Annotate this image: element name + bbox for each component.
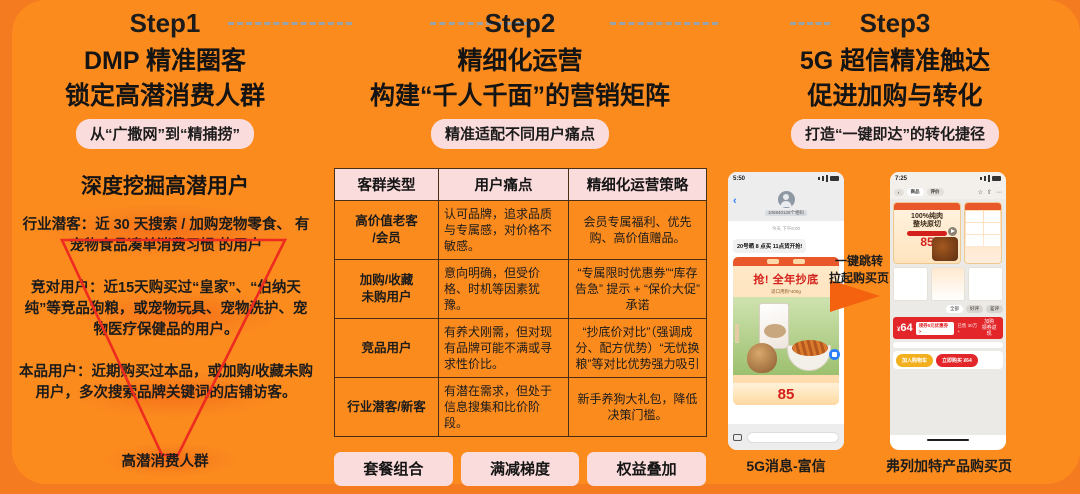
ad-chip-icon: [793, 259, 805, 264]
price-bar-right-label: 加购 领券返现: [979, 319, 999, 337]
table-row: 高价值老客 /会员 认可品牌，追求品质与专属感，对价格不敏感。 会员专属福利、优…: [335, 201, 707, 260]
battery-icon: [830, 176, 839, 181]
grid-cell: [966, 223, 983, 234]
row1-pain: 认可品牌，追求品质与专属感，对价格不敏感。: [439, 201, 569, 260]
row3-pain: 有养犬刚需，但对现有品牌可能不满或寻求性价比。: [439, 319, 569, 378]
phone-a-conversation-header: ‹ 106940128个相码: [728, 185, 844, 221]
row1-strategy: 会员专属福利、优先购、高价值赠品。: [569, 201, 707, 260]
step1-section-title: 深度挖掘高潜用户: [0, 170, 330, 200]
back-chevron-icon[interactable]: ‹: [894, 189, 904, 196]
avatar: [778, 191, 795, 208]
pill-benefit-stack[interactable]: 权益叠加: [587, 452, 706, 486]
row4-strategy: 新手养狗大礼包，降低决策门槛。: [569, 378, 707, 437]
signal-bar-icon: [988, 175, 990, 182]
signal-bar-icon: [826, 175, 828, 182]
battery-icon: [992, 176, 1001, 181]
tab-reviews[interactable]: 评价: [927, 188, 944, 196]
more-icon[interactable]: ⋯: [996, 189, 1002, 196]
phone-a-message-bubble: 20号晒 8 点买 11点货开抢!: [733, 239, 806, 253]
row3-type: 竞品用户: [335, 319, 439, 378]
segment-strategy-table: 客群类型 用户痛点 精细化运营策略 高价值老客 /会员 认可品牌，追求品质与专属…: [334, 168, 707, 437]
step2-label: Step2: [485, 8, 556, 38]
phone-a-ad-price-bar: 85: [733, 383, 839, 405]
message-action-icon[interactable]: [829, 349, 840, 360]
column-step1: Step1 DMP 精准圈客 锁定高潜消费人群 从“广撒网”到“精捕捞” 深度挖…: [0, 0, 330, 494]
play-icon[interactable]: [948, 227, 957, 236]
phone-a-status-time: 5:50: [733, 176, 745, 182]
product-price-value: 64: [900, 322, 912, 334]
grid-cell: [966, 235, 983, 246]
jump-callout-line1: 一键跳转: [816, 253, 902, 270]
signal-bar-icon: [980, 177, 982, 180]
phone-b-status-icons: [980, 175, 1001, 182]
phone-b-banner-row: 100%纯肉 整块原切 85: [893, 202, 1003, 264]
product-side-card-1[interactable]: [964, 202, 1002, 264]
step3-label: Step3: [860, 8, 931, 38]
step3-headline-line2: 促进加购与转化: [710, 79, 1080, 114]
info-card[interactable]: [931, 267, 966, 301]
step1-headline: DMP 精准圈客 锁定高潜消费人群 从“广撒网”到“精捕捞”: [0, 44, 330, 149]
phone-a-caption: 5G消息-富信: [716, 456, 856, 476]
phone-b-caption: 弗列加特产品购买页: [876, 456, 1022, 476]
buy-now-button[interactable]: 立即购买 ¥64: [936, 354, 978, 367]
row4-pain: 有潜在需求，但处于信息搜集和比价阶段。: [439, 378, 569, 437]
row2-type: 加购/收藏 未购用户: [335, 260, 439, 319]
grid-cell: [966, 211, 983, 222]
audience-label-industry: 行业潜客：: [23, 217, 96, 233]
info-card[interactable]: [968, 267, 1003, 301]
audience-paragraph-competitor: 竞对用户：近15天购买过“皇家”、“伯纳天纯”等竞品狗粮，或宠物玩具、宠物洗护、…: [18, 278, 314, 341]
tab-product[interactable]: 商品: [907, 188, 924, 196]
jump-callout-text: 一键跳转 拉起购买页: [816, 253, 902, 287]
phone-a-message-time: 今天 下午8:00: [733, 226, 839, 232]
review-tab-good[interactable]: 好评: [966, 305, 983, 313]
table-header-pain: 用户痛点: [439, 169, 569, 201]
signal-bar-icon: [818, 177, 820, 180]
phone-b-card-strip: [893, 267, 1003, 301]
camera-icon[interactable]: [733, 434, 742, 441]
phone-b-price-bar: ¥64 领券5元优惠券 > 已售 30万+ 加购 领券返现: [893, 317, 1003, 339]
table-header-strategy: 精细化运营策略: [569, 169, 707, 201]
jump-callout-line2: 拉起购买页: [816, 270, 902, 287]
star-icon[interactable]: ☆: [978, 189, 983, 196]
step1-label: Step1: [130, 8, 201, 38]
dog-photo-icon: [747, 343, 777, 373]
add-to-cart-button[interactable]: 加入购物车: [896, 354, 933, 367]
step2-bottom-pills: 套餐组合 满减梯度 权益叠加: [334, 452, 706, 486]
phone-a-status-bar: 5:50: [728, 172, 844, 185]
product-price: ¥64: [897, 322, 913, 334]
step1-label-row: Step1: [0, 6, 330, 40]
sold-count: 已售 30万+: [957, 323, 979, 334]
audience-paragraph-own: 本品用户：近期购买过本品，或加购/收藏未购用户，多次搜索品牌关键词的店铺访客。: [18, 362, 314, 404]
phone-a-input-bar[interactable]: [728, 424, 844, 450]
step2-headline-line1: 精细化运营: [330, 44, 710, 79]
step2-label-row: Step2: [330, 6, 710, 40]
pill-discount-tier[interactable]: 满减梯度: [461, 452, 580, 486]
phone-a-ad-price: 85: [778, 386, 795, 403]
ad-tag-icon: [737, 324, 739, 343]
step1-headline-line2: 锁定高潜消费人群: [0, 79, 330, 114]
phone-b-detail-list: [893, 342, 1003, 348]
table-header-row: 客群类型 用户痛点 精细化运营策略: [335, 169, 707, 201]
phone-b-content: 100%纯肉 整块原切 85: [890, 199, 1006, 435]
step3-headline: 5G 超信精准触达 促进加购与转化 打造“一键即达”的转化捷径: [710, 44, 1080, 149]
step3-sub-pill: 打造“一键即达”的转化捷径: [791, 119, 999, 149]
coupon-badge[interactable]: 领券5元优惠券 >: [916, 322, 955, 335]
signal-bar-icon: [984, 176, 986, 181]
row1-type: 高价值老客 /会员: [335, 201, 439, 260]
row3-strategy: “抄底价对比”（强调成分、配方优势）“无忧换粮”等对比优势强力吸引: [569, 319, 707, 378]
audience-paragraph-industry: 行业潜客：近 30 天搜索 / 加购宠物零食、 有宠物食品凑单消费习惯 的用户: [18, 215, 314, 257]
back-chevron-icon[interactable]: ‹: [733, 195, 737, 207]
phone-b-status-time: 7:25: [895, 176, 907, 182]
ad-chip-icon: [767, 259, 779, 264]
table-row: 竞品用户 有养犬刚需，但对现有品牌可能不满或寻求性价比。 “抄底价对比”（强调成…: [335, 319, 707, 378]
phone-mockup-product-page: 7:25 ‹ 商品 评价 ☆ ⇧ ⋯: [890, 172, 1006, 450]
table-header-type: 客群类型: [335, 169, 439, 201]
step1-headline-line1: DMP 精准圈客: [0, 44, 330, 79]
infographic-root: Step1 DMP 精准圈客 锁定高潜消费人群 从“广撒网”到“精捕捞” 深度挖…: [0, 0, 1080, 494]
food-bowl-icon: [787, 345, 831, 371]
column-step2: Step2 精细化运营 构建“千人千面”的营销矩阵 精准适配不同用户痛点 客群类…: [330, 0, 710, 494]
step2-sub-pill: 精准适配不同用户痛点: [431, 119, 609, 149]
review-tab-bad[interactable]: 差评: [986, 305, 1003, 313]
row2-strategy: “专属限时优惠券”“库存告急” 提示 + “保价大促” 承诺: [569, 260, 707, 319]
audience-label-own: 本品用户：: [19, 364, 92, 380]
signal-bar-icon: [822, 176, 824, 181]
share-icon[interactable]: ⇧: [987, 189, 992, 196]
pill-package-combo[interactable]: 套餐组合: [334, 452, 453, 486]
step1-sub-pill: 从“广撒网”到“精捕捞”: [76, 119, 254, 149]
phone-b-review-tabs: 全部 好评 差评: [893, 305, 1003, 313]
hero-card-top-bar: [894, 203, 960, 210]
grid-cell: [984, 223, 1001, 234]
phone-b-nav-icons: ☆ ⇧ ⋯: [978, 189, 1002, 196]
funnel-result-label: 高潜消费人群: [0, 450, 330, 471]
audience-label-competitor: 竞对用户：: [31, 280, 104, 296]
table-row: 加购/收藏 未购用户 意向明确，但受价格、时机等因素犹豫。 “专属限时优惠券”“…: [335, 260, 707, 319]
grid-cell: [984, 211, 1001, 222]
phone-a-contact-number: 106940128个相码: [765, 210, 807, 216]
grid-cell: [984, 235, 1001, 246]
phone-b-status-bar: 7:25: [890, 172, 1006, 185]
row4-type: 行业潜客/新客: [335, 378, 439, 437]
side-card-grid: [965, 210, 1001, 247]
ad-side-tags: [735, 325, 749, 343]
step3-headline-line1: 5G 超信精准触达: [710, 44, 1080, 79]
step2-headline-line2: 构建“千人千面”的营销矩阵: [330, 79, 710, 114]
step2-headline: 精细化运营 构建“千人千面”的营销矩阵 精准适配不同用户痛点: [330, 44, 710, 149]
meat-photo-icon: [932, 237, 958, 261]
audience-text-industry: 近 30 天搜索 / 加购宠物零食、 有宠物食品凑单消费习惯 的用户: [70, 217, 310, 254]
side-card-top-bar: [965, 203, 1001, 210]
step3-label-row: Step3: [710, 6, 1080, 40]
phone-a-status-icons: [818, 175, 839, 182]
message-input-field[interactable]: [747, 432, 839, 443]
table-row: 行业潜客/新客 有潜在需求，但处于信息搜集和比价阶段。 新手养狗大礼包，降低决策…: [335, 378, 707, 437]
review-tab-all[interactable]: 全部: [946, 305, 963, 313]
product-hero-card[interactable]: 100%纯肉 整块原切 85: [893, 202, 961, 264]
phone-b-action-bar: 加入购物车 立即购买 ¥64: [893, 351, 1003, 369]
row2-pain: 意向明确，但受价格、时机等因素犹豫。: [439, 260, 569, 319]
column-step3: Step3 5G 超信精准触达 促进加购与转化 打造“一键即达”的转化捷径 5:…: [710, 0, 1080, 494]
phone-b-nav-bar: ‹ 商品 评价 ☆ ⇧ ⋯: [890, 185, 1006, 199]
phone-b-home-indicator: [890, 435, 1006, 444]
